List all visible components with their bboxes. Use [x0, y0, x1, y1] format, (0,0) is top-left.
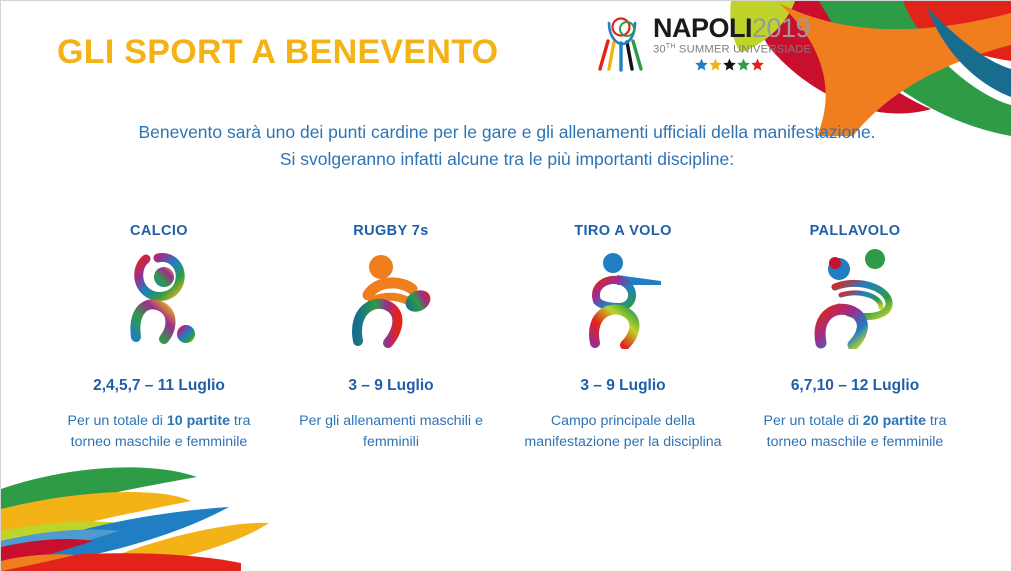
sport-date: 6,7,10 – 12 Luglio [745, 377, 965, 395]
intro-line-2: Si svolgeranno infatti alcune tra le più… [61, 146, 953, 173]
logo-stars [653, 58, 805, 71]
sport-note: Campo principale della manifestazione pe… [513, 411, 733, 453]
fisu-universiade-logo-icon [597, 17, 649, 73]
sport-date: 3 – 9 Luglio [281, 377, 501, 395]
sport-card-calcio: CALCIO [43, 223, 275, 453]
intro-paragraph: Benevento sarà uno dei punti cardine per… [61, 119, 953, 173]
star-icon-red [751, 58, 764, 71]
rugby-pictogram-icon [281, 247, 501, 351]
presentation-slide: GLI SPORT A BENEVENTO NAPOLI2019 30TH SU… [0, 0, 1012, 572]
sports-list: CALCIO [43, 223, 971, 453]
logo-word-napoli: NAPOLI [653, 13, 752, 43]
star-icon-yellow [709, 58, 722, 71]
shooting-pictogram-icon [513, 247, 733, 351]
sport-title: CALCIO [49, 223, 269, 239]
star-icon-blue [695, 58, 708, 71]
napoli-2019-logo: NAPOLI2019 30TH SUMMER UNIVERSIADE [597, 11, 807, 79]
sport-date: 2,4,5,7 – 11 Luglio [49, 377, 269, 395]
sport-card-tiro-a-volo: TIRO A VOLO [507, 223, 739, 453]
star-icon-black [723, 58, 736, 71]
star-icon-green [737, 58, 750, 71]
intro-line-1: Benevento sarà uno dei punti cardine per… [61, 119, 953, 146]
sport-date: 3 – 9 Luglio [513, 377, 733, 395]
ribbon-graphic-bottom-left [1, 461, 301, 571]
page-title: GLI SPORT A BENEVENTO [57, 33, 498, 72]
sport-title: PALLAVOLO [745, 223, 965, 239]
sport-title: TIRO A VOLO [513, 223, 733, 239]
sport-title: RUGBY 7s [281, 223, 501, 239]
sport-note: Per gli allenamenti maschili e femminili [281, 411, 501, 453]
logo-wordmark: NAPOLI2019 [653, 15, 805, 42]
volleyball-pictogram-icon [745, 247, 965, 351]
sport-note: Per un totale di 20 partite tra torneo m… [745, 411, 965, 453]
sport-card-rugby: RUGBY 7s 3 – 9 Luglio P [275, 223, 507, 453]
logo-subtitle: 30TH SUMMER UNIVERSIADE [653, 43, 805, 56]
football-pictogram-icon [49, 247, 269, 351]
sport-card-pallavolo: PALLAVOLO [739, 223, 971, 453]
sport-note: Per un totale di 10 partite tra torneo m… [49, 411, 269, 453]
logo-word-year: 2019 [752, 13, 810, 43]
